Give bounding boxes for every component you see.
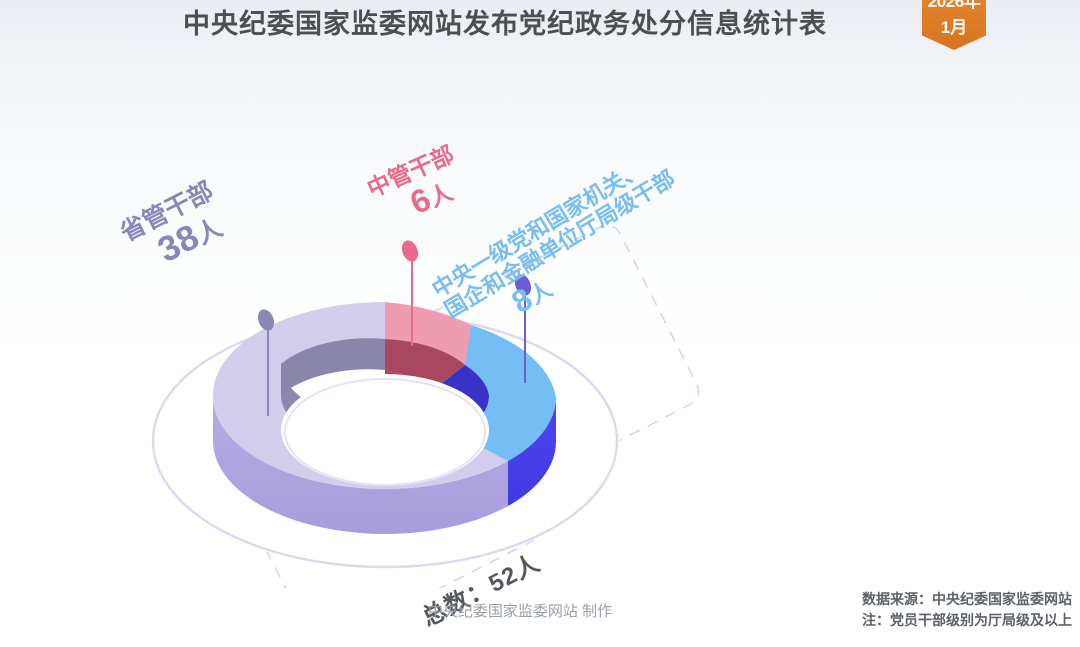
infographic-root: 中央纪委国家监委网站发布党纪政务处分信息统计表 2026年 1月 <box>0 0 1080 647</box>
date-ribbon-badge: 2026年 1月 <box>922 0 986 50</box>
data-source-note: 数据来源：中央纪委国家监委网站 <box>862 589 1072 610</box>
ribbon-year-label: 2026年 <box>922 0 986 12</box>
donut-chart-area: 省管干部 38人 中管干部 6人 中央一级党和国家机关、 国企和金融单位厅局级干… <box>0 58 1080 588</box>
footnotes: 数据来源：中央纪委国家监委网站 注：党员干部级别为厅局级及以上 <box>862 589 1072 631</box>
header-band: 中央纪委国家监委网站发布党纪政务处分信息统计表 2026年 1月 <box>0 0 1080 58</box>
page-title: 中央纪委国家监委网站发布党纪政务处分信息统计表 <box>0 2 1010 41</box>
donut-chart-svg <box>0 58 1080 588</box>
ribbon-month-label: 1月 <box>922 13 986 38</box>
level-note: 注：党员干部级别为厅局级及以上 <box>862 610 1072 631</box>
